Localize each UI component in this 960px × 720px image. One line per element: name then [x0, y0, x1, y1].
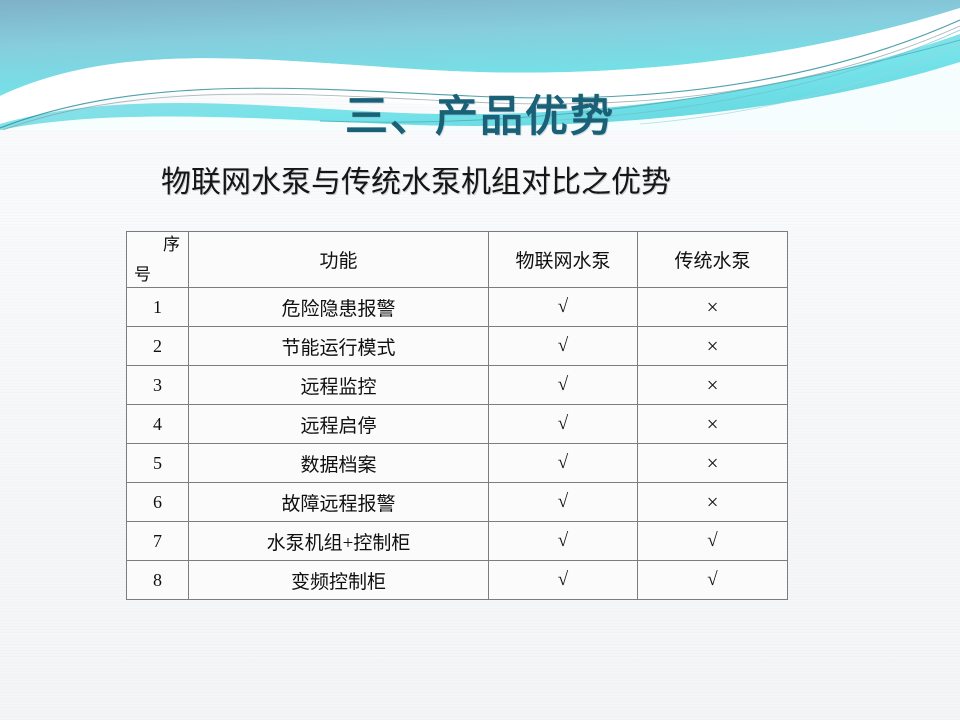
cell-traditional-cross-icon: × — [638, 444, 788, 483]
cell-serial-number: 6 — [127, 483, 189, 522]
slide-subtitle: 物联网水泵与传统水泵机组对比之优势 — [96, 164, 736, 202]
cell-serial-number: 3 — [127, 366, 189, 405]
cell-iot-check-icon: √ — [489, 561, 638, 600]
cell-function-name: 远程监控 — [189, 366, 489, 405]
slide-canvas: 三、产品优势 物联网水泵与传统水泵机组对比之优势 序 号 功能 物联网水泵 传统 — [0, 0, 960, 720]
cell-function-name: 远程启停 — [189, 405, 489, 444]
cell-serial-number: 7 — [127, 522, 189, 561]
cell-traditional-check-icon: √ — [638, 561, 788, 600]
table-row: 4远程启停√× — [127, 405, 788, 444]
table-row: 3远程监控√× — [127, 366, 788, 405]
header-cell-traditional-pump: 传统水泵 — [638, 232, 788, 288]
header-cell-serial-number: 序 号 — [127, 232, 189, 288]
cell-function-name: 故障远程报警 — [189, 483, 489, 522]
cell-iot-check-icon: √ — [489, 444, 638, 483]
table-row: 6故障远程报警√× — [127, 483, 788, 522]
table-header-row: 序 号 功能 物联网水泵 传统水泵 — [127, 232, 788, 288]
cell-traditional-cross-icon: × — [638, 405, 788, 444]
table-row: 8变频控制柜√√ — [127, 561, 788, 600]
cell-serial-number: 2 — [127, 327, 189, 366]
cell-traditional-cross-icon: × — [638, 327, 788, 366]
header-serial-top-label: 序 — [163, 235, 180, 255]
table-body: 1危险隐患报警√×2节能运行模式√×3远程监控√×4远程启停√×5数据档案√×6… — [127, 288, 788, 600]
cell-iot-check-icon: √ — [489, 522, 638, 561]
table-row: 1危险隐患报警√× — [127, 288, 788, 327]
cell-serial-number: 4 — [127, 405, 189, 444]
cell-iot-check-icon: √ — [489, 483, 638, 522]
cell-traditional-cross-icon: × — [638, 288, 788, 327]
cell-function-name: 危险隐患报警 — [189, 288, 489, 327]
cell-traditional-check-icon: √ — [638, 522, 788, 561]
table-header: 序 号 功能 物联网水泵 传统水泵 — [127, 232, 788, 288]
cell-function-name: 水泵机组+控制柜 — [189, 522, 489, 561]
table-row: 2节能运行模式√× — [127, 327, 788, 366]
table-row: 7水泵机组+控制柜√√ — [127, 522, 788, 561]
cell-function-name: 变频控制柜 — [189, 561, 489, 600]
cell-serial-number: 1 — [127, 288, 189, 327]
comparison-table-container: 序 号 功能 物联网水泵 传统水泵 1危险隐患报警√×2节能运行模式√×3远程监… — [126, 231, 787, 598]
header-cell-function: 功能 — [189, 232, 489, 288]
cell-iot-check-icon: √ — [489, 405, 638, 444]
cell-iot-check-icon: √ — [489, 366, 638, 405]
cell-iot-check-icon: √ — [489, 327, 638, 366]
cell-serial-number: 8 — [127, 561, 189, 600]
cell-traditional-cross-icon: × — [638, 483, 788, 522]
table-row: 5数据档案√× — [127, 444, 788, 483]
header-cell-iot-pump: 物联网水泵 — [489, 232, 638, 288]
comparison-table: 序 号 功能 物联网水泵 传统水泵 1危险隐患报警√×2节能运行模式√×3远程监… — [126, 231, 788, 600]
cell-function-name: 节能运行模式 — [189, 327, 489, 366]
cell-serial-number: 5 — [127, 444, 189, 483]
cell-function-name: 数据档案 — [189, 444, 489, 483]
slide-title: 三、产品优势 — [0, 92, 960, 142]
cell-traditional-cross-icon: × — [638, 366, 788, 405]
cell-iot-check-icon: √ — [489, 288, 638, 327]
header-serial-bottom-label: 号 — [134, 265, 151, 285]
